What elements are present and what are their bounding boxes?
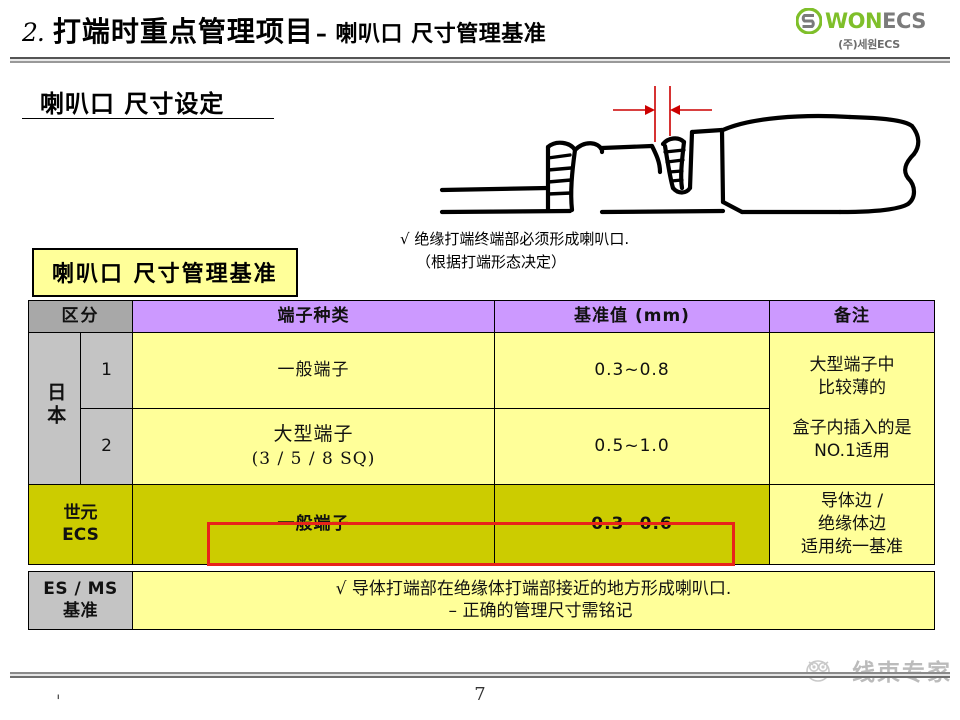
watermark-text: 线束专家 (852, 653, 952, 687)
remarks-2-line-1: 盒子内插入的是 (775, 417, 929, 440)
section-heading-underline (22, 118, 274, 119)
esms-label-line-1: ES / MS (34, 578, 127, 601)
watermark: 线束专家 (804, 652, 952, 688)
logo-word: WONECS (825, 8, 926, 34)
esms-body: √ 导体打端部在绝缘体打端部接近的地方形成喇叭口. – 正确的管理尺寸需铭记 (133, 571, 935, 629)
esms-table: ES / MS 基准 √ 导体打端部在绝缘体打端部接近的地方形成喇叭口. – 正… (28, 571, 935, 630)
remarks-spacer (775, 399, 929, 417)
table-caption-box: 喇叭口 尺寸管理基准 (32, 248, 298, 297)
diagram-note-line-2: （根据打端形态决定） (400, 251, 629, 274)
row-1-terminal-type: 一般端子 (133, 332, 495, 408)
spec-table-wrapper: 区分 端子种类 基准值 (mm) 备注 日本 1 一般端子 0.3~0.8 大型… (28, 300, 934, 630)
spec-table: 区分 端子种类 基准值 (mm) 备注 日本 1 一般端子 0.3~0.8 大型… (28, 300, 935, 565)
table-row: 日本 1 一般端子 0.3~0.8 大型端子中 比较薄的 盒子内插入的是 NO.… (29, 332, 935, 408)
row-group-ecs: 世元 ECS (29, 484, 133, 564)
footer-divider (10, 672, 950, 678)
row-group-japan: 日本 (29, 332, 81, 484)
page-number: 7 (0, 684, 960, 705)
header-terminal-type: 端子种类 (133, 301, 495, 333)
row-group-ecs-line-2: ECS (34, 524, 127, 547)
row-ecs-terminal-type: 一般端子 (133, 484, 495, 564)
row-ecs-value: 0.3~0.6 (495, 484, 770, 564)
remarks-1-line-2: 比较薄的 (775, 377, 929, 400)
esms-label: ES / MS 基准 (29, 571, 133, 629)
row-ecs-remarks: 导体边 / 绝缘体边 适用统一基准 (770, 484, 935, 564)
company-logo: WONECS (주)세원ECS (796, 8, 942, 54)
page-title: 2. 打端时重点管理项目 – 喇叭口 尺寸管理基准 (22, 10, 546, 50)
slide-canvas: 2. 打端时重点管理项目 – 喇叭口 尺寸管理基准 WONECS (주)세원EC… (0, 0, 960, 720)
table-row-ecs: 世元 ECS 一般端子 0.3~0.6 导体边 / 绝缘体边 适用统一基准 (29, 484, 935, 564)
diagram-note-text-1: 绝缘打端终端部必须形成喇叭口. (414, 230, 629, 248)
slide-header: 2. 打端时重点管理项目 – 喇叭口 尺寸管理基准 WONECS (주)세원EC… (0, 0, 960, 70)
se-circle-icon (796, 8, 822, 34)
logo-wordmark-row: WONECS (796, 8, 942, 34)
owl-icon (804, 652, 850, 688)
logo-word-primary: WON (825, 9, 882, 33)
esms-body-line-1: √ 导体打端部在绝缘体打端部接近的地方形成喇叭口. (138, 578, 929, 601)
header-remarks: 备注 (770, 301, 935, 333)
table-row-esms: ES / MS 基准 √ 导体打端部在绝缘体打端部接近的地方形成喇叭口. – 正… (29, 571, 935, 629)
row-number-1: 1 (81, 332, 133, 408)
row-ecs-remarks-line-2: 绝缘体边 (775, 513, 929, 536)
diagram-note: √ 绝缘打端终端部必须形成喇叭口. （根据打端形态决定） (400, 228, 629, 273)
header-division: 区分 (29, 301, 133, 333)
check-mark-icon: √ (400, 230, 410, 248)
remarks-1-line-1: 大型端子中 (775, 354, 929, 377)
crimped-terminal-diagram (420, 84, 960, 224)
remarks-2-line-2: NO.1适用 (775, 440, 929, 463)
row-group-japan-label: 日本 (42, 382, 67, 428)
title-sub-text: – 喇叭口 尺寸管理基准 (316, 16, 546, 48)
table-header-row: 区分 端子种类 基准值 (mm) 备注 (29, 301, 935, 333)
logo-subtitle: (주)세원ECS (796, 36, 942, 52)
logo-word-secondary: ECS (882, 9, 926, 33)
row-1-value: 0.3~0.8 (495, 332, 770, 408)
row-ecs-remarks-line-3: 适用统一基准 (775, 536, 929, 559)
header-divider (10, 57, 950, 63)
rows-1-2-remarks: 大型端子中 比较薄的 盒子内插入的是 NO.1适用 (770, 332, 935, 484)
title-main-text: 打端时重点管理项目 (53, 10, 314, 50)
diagram-note-line-1: √ 绝缘打端终端部必须形成喇叭口. (400, 228, 629, 251)
row-group-ecs-line-1: 世元 (34, 502, 127, 525)
esms-body-line-2: – 正确的管理尺寸需铭记 (138, 600, 929, 623)
header-standard-value: 基准值 (mm) (495, 301, 770, 333)
row-ecs-remarks-line-1: 导体边 / (775, 490, 929, 513)
esms-label-line-2: 基准 (34, 600, 127, 623)
row-2-terminal-type: 大型端子 (3 / 5 / 8 SQ) (133, 408, 495, 484)
row-2-value: 0.5~1.0 (495, 408, 770, 484)
row-2-terminal-type-sub: (3 / 5 / 8 SQ) (138, 448, 489, 471)
row-2-terminal-type-main: 大型端子 (138, 422, 489, 447)
row-number-2: 2 (81, 408, 133, 484)
title-number: 2. (22, 18, 44, 47)
